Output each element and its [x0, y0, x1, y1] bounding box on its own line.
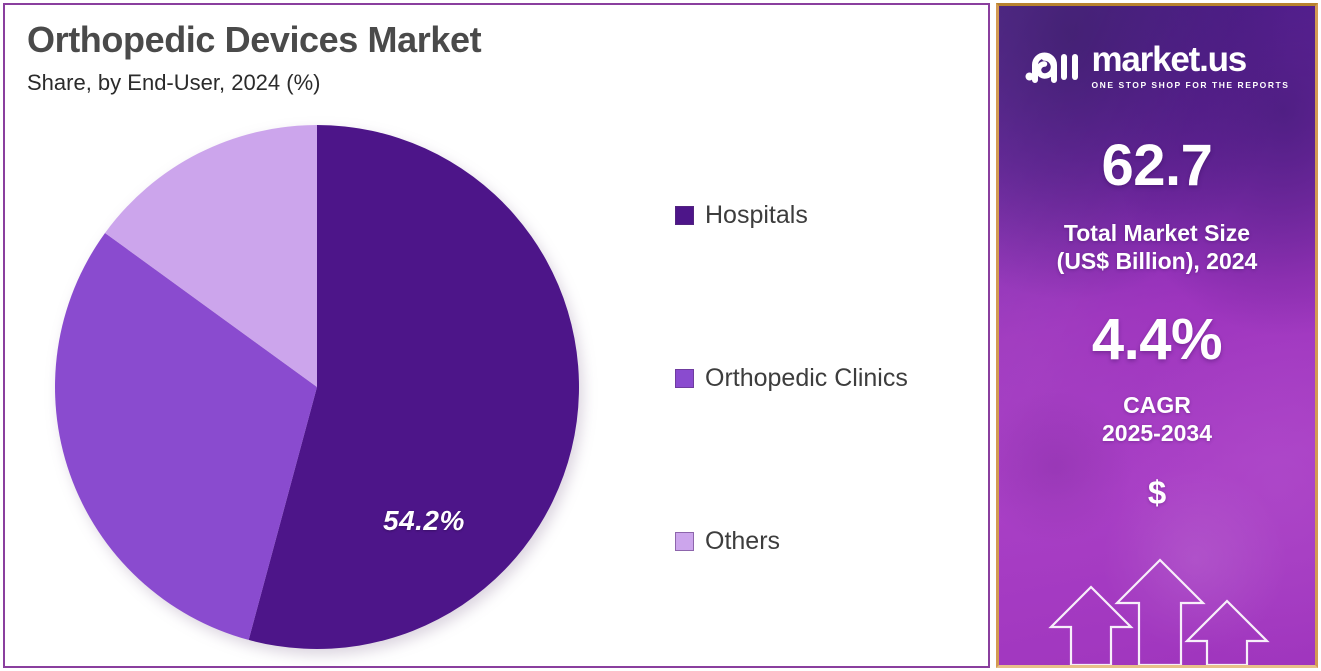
page-title: Orthopedic Devices Market: [27, 19, 481, 60]
chart-legend: Hospitals Orthopedic Clinics Others: [675, 195, 975, 561]
statistics-panel: market.us ONE STOP SHOP FOR THE REPORTS …: [996, 3, 1318, 668]
cagr-caption-line2: 2025-2034: [999, 419, 1315, 447]
logo-text-block: market.us ONE STOP SHOP FOR THE REPORTS: [1092, 42, 1290, 90]
market-size-caption-line1: Total Market Size: [999, 219, 1315, 247]
legend-label-orthopedic-clinics: Orthopedic Clinics: [705, 364, 908, 393]
logo-tagline: ONE STOP SHOP FOR THE REPORTS: [1092, 80, 1290, 90]
cagr-value: 4.4%: [999, 306, 1315, 373]
logo-wordmark: market.us: [1092, 42, 1290, 77]
market-size-caption: Total Market Size (US$ Billion), 2024: [999, 219, 1315, 275]
chart-header: Orthopedic Devices Market Share, by End-…: [27, 19, 481, 96]
cagr-caption: CAGR 2025-2034: [999, 391, 1315, 447]
dollar-sign-icon: $: [999, 474, 1315, 512]
legend-item-orthopedic-clinics[interactable]: Orthopedic Clinics: [675, 358, 975, 398]
growth-arrows-icon: [1029, 545, 1291, 665]
legend-swatch-icon-orthopedic-clinics: [675, 369, 694, 388]
chart-subtitle: Share, by End-User, 2024 (%): [27, 70, 481, 96]
infographic-root: Orthopedic Devices Market Share, by End-…: [0, 0, 1321, 671]
pie-chart: 54.2%: [53, 123, 581, 651]
market-us-logo-icon: [1025, 46, 1083, 86]
cagr-caption-line1: CAGR: [999, 391, 1315, 419]
legend-item-hospitals[interactable]: Hospitals: [675, 195, 975, 235]
legend-label-hospitals: Hospitals: [705, 201, 808, 230]
legend-swatch-icon-others: [675, 532, 694, 551]
brand-logo[interactable]: market.us ONE STOP SHOP FOR THE REPORTS: [999, 42, 1315, 90]
legend-label-others: Others: [705, 527, 780, 556]
pie-slices: [53, 123, 581, 651]
legend-item-others[interactable]: Others: [675, 521, 975, 561]
market-size-caption-line2: (US$ Billion), 2024: [999, 247, 1315, 275]
pie-slice-label-hospitals: 54.2%: [383, 505, 465, 537]
market-size-value: 62.7: [999, 132, 1315, 199]
legend-swatch-icon-hospitals: [675, 206, 694, 225]
pie-chart-card: Orthopedic Devices Market Share, by End-…: [3, 3, 990, 668]
